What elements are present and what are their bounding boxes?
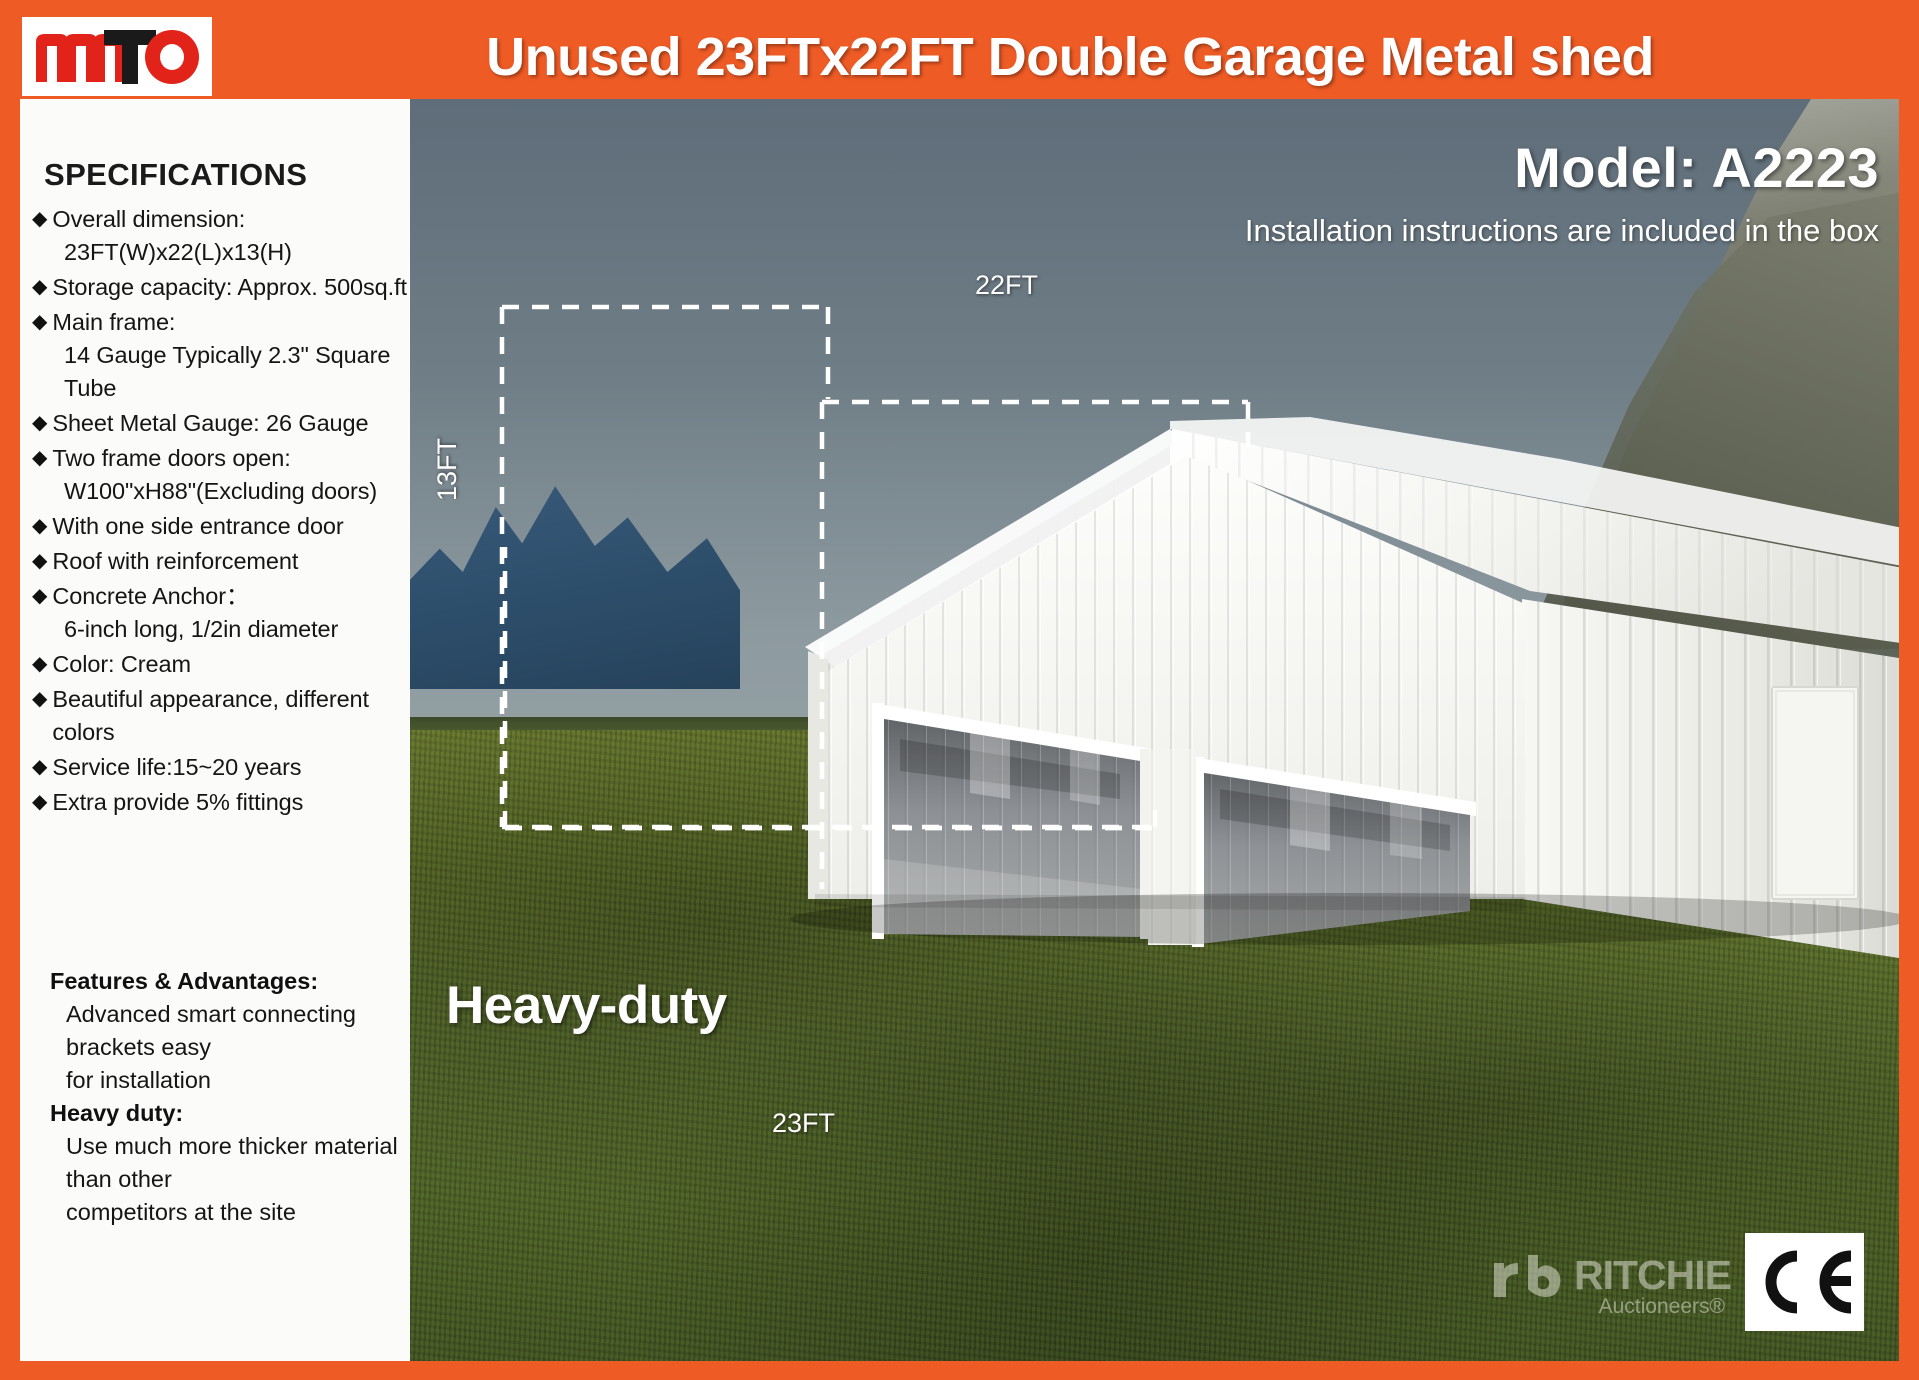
mto-logo [22,17,212,96]
features-advantages-block: Features & Advantages: Advanced smart co… [40,965,428,1229]
features-line: for installation [66,1064,428,1097]
spec-label: Service life:15~20 years [52,751,301,784]
list-item: ◆ Sheet Metal Gauge: 26 Gauge [30,407,410,440]
diamond-bullet-icon: ◆ [32,442,47,475]
diamond-bullet-icon: ◆ [32,306,47,339]
specifications-list: ◆ Overall dimension: 23FT(W)x22(L)x13(H)… [30,203,410,819]
list-item: ◆ Extra provide 5% fittings [30,786,410,819]
dimension-label-13ft: 13FT [432,438,463,501]
model-label: Model: A2223 [1514,135,1879,200]
list-item: ◆ Roof with reinforcement [30,545,410,578]
specifications-panel: SPECIFICATIONS ◆ Overall dimension: 23FT… [20,99,410,1361]
spec-label: Color: Cream [52,648,191,681]
specifications-heading: SPECIFICATIONS [44,157,410,193]
heavy-duty-heading: Heavy duty: [50,1097,428,1130]
side-entrance-door [1772,687,1858,899]
product-photo: 22FT 23FT 13FT Model: A2223 Installation… [410,99,1899,1361]
list-item: ◆ Beautiful appearance, different colors [30,683,410,749]
diamond-bullet-icon: ◆ [32,271,47,304]
diamond-bullet-icon: ◆ [32,407,47,440]
heavy-duty-line: competitors at the site [66,1196,428,1229]
diamond-bullet-icon: ◆ [32,683,47,716]
spec-sub: 14 Gauge Typically 2.3" Square Tube [64,339,410,405]
list-item: ◆ Service life:15~20 years [30,751,410,784]
diamond-bullet-icon: ◆ [32,648,47,681]
spec-sub: 23FT(W)x22(L)x13(H) [64,236,410,269]
spec-label: Two frame doors open: [52,442,290,475]
diamond-bullet-icon: ◆ [32,751,47,784]
spec-label: Overall dimension: [52,203,245,236]
metal-shed-illustration [410,99,1899,1361]
diamond-bullet-icon: ◆ [32,545,47,578]
diamond-bullet-icon: ◆ [32,580,47,613]
list-item: ◆ Two frame doors open: W100"xH88"(Exclu… [30,442,410,508]
spec-label: Main frame: [52,306,175,339]
ce-mark [1745,1233,1864,1331]
spec-label: Extra provide 5% fittings [52,786,303,819]
list-item: ◆ Main frame: 14 Gauge Typically 2.3" Sq… [30,306,410,405]
page-title: Unused 23FTx22FT Double Garage Metal she… [255,0,1885,113]
spec-label: Roof with reinforcement [52,545,298,578]
diamond-bullet-icon: ◆ [32,203,47,236]
diamond-bullet-icon: ◆ [32,510,47,543]
spec-label: With one side entrance door [52,510,343,543]
list-item: ◆ With one side entrance door [30,510,410,543]
features-heading: Features & Advantages: [50,965,428,998]
spec-sub: 6-inch long, 1/2in diameter [64,613,410,646]
instructions-note: Installation instructions are included i… [1245,213,1879,249]
dimension-label-22ft: 22FT [975,270,1038,301]
spec-label: Storage capacity: Approx. 500sq.ft [52,271,407,304]
list-item: ◆ Concrete Anchor： 6-inch long, 1/2in di… [30,580,410,646]
heavy-duty-badge: Heavy-duty [446,975,727,1036]
product-flyer: Unused 23FTx22FT Double Garage Metal she… [0,0,1919,1380]
list-item: ◆ Storage capacity: Approx. 500sq.ft [30,271,410,304]
spec-sub: W100"xH88"(Excluding doors) [64,475,410,508]
dimension-label-23ft: 23FT [772,1108,835,1139]
header-bar: Unused 23FTx22FT Double Garage Metal she… [0,0,1919,113]
heavy-duty-line: Use much more thicker material than othe… [66,1130,428,1196]
spec-label: Sheet Metal Gauge: 26 Gauge [52,407,368,440]
list-item: ◆ Overall dimension: 23FT(W)x22(L)x13(H) [30,203,410,269]
diamond-bullet-icon: ◆ [32,786,47,819]
spec-label: Beautiful appearance, different colors [52,683,410,749]
features-line: Advanced smart connecting brackets easy [66,998,428,1064]
ce-mark-icon [1753,1250,1857,1314]
spec-label: Concrete Anchor： [52,580,249,613]
mto-logo-icon [32,28,202,86]
list-item: ◆ Color: Cream [30,648,410,681]
